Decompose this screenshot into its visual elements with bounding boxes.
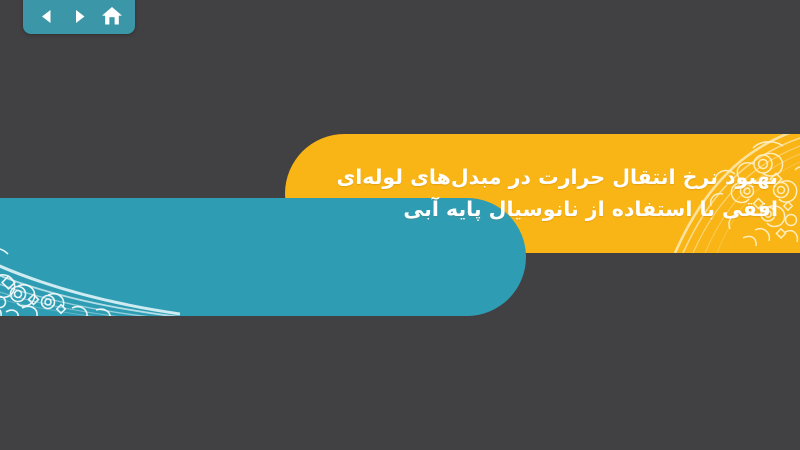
slide-title: بهبود نرخ انتقال حرارت در مبدل‌های لوله‌… <box>345 134 778 253</box>
title-banner-orange: بهبود نرخ انتقال حرارت در مبدل‌های لوله‌… <box>285 134 800 253</box>
home-icon <box>101 6 123 26</box>
title-line-1: بهبود نرخ انتقال حرارت در مبدل‌های لوله‌… <box>336 164 778 192</box>
home-button[interactable] <box>99 4 125 28</box>
arabesque-corner-ornament-mirrored <box>0 198 180 316</box>
back-button[interactable] <box>33 4 59 28</box>
title-line-2: افقی با استفاده از نانوسیال پایه آبی <box>403 196 778 224</box>
forward-button[interactable] <box>66 4 92 28</box>
back-triangle-icon <box>38 8 55 25</box>
navigation-bar <box>23 0 135 34</box>
presentation-slide: بهبود نرخ انتقال حرارت در مبدل‌های لوله‌… <box>0 0 800 450</box>
forward-triangle-icon <box>71 8 88 25</box>
